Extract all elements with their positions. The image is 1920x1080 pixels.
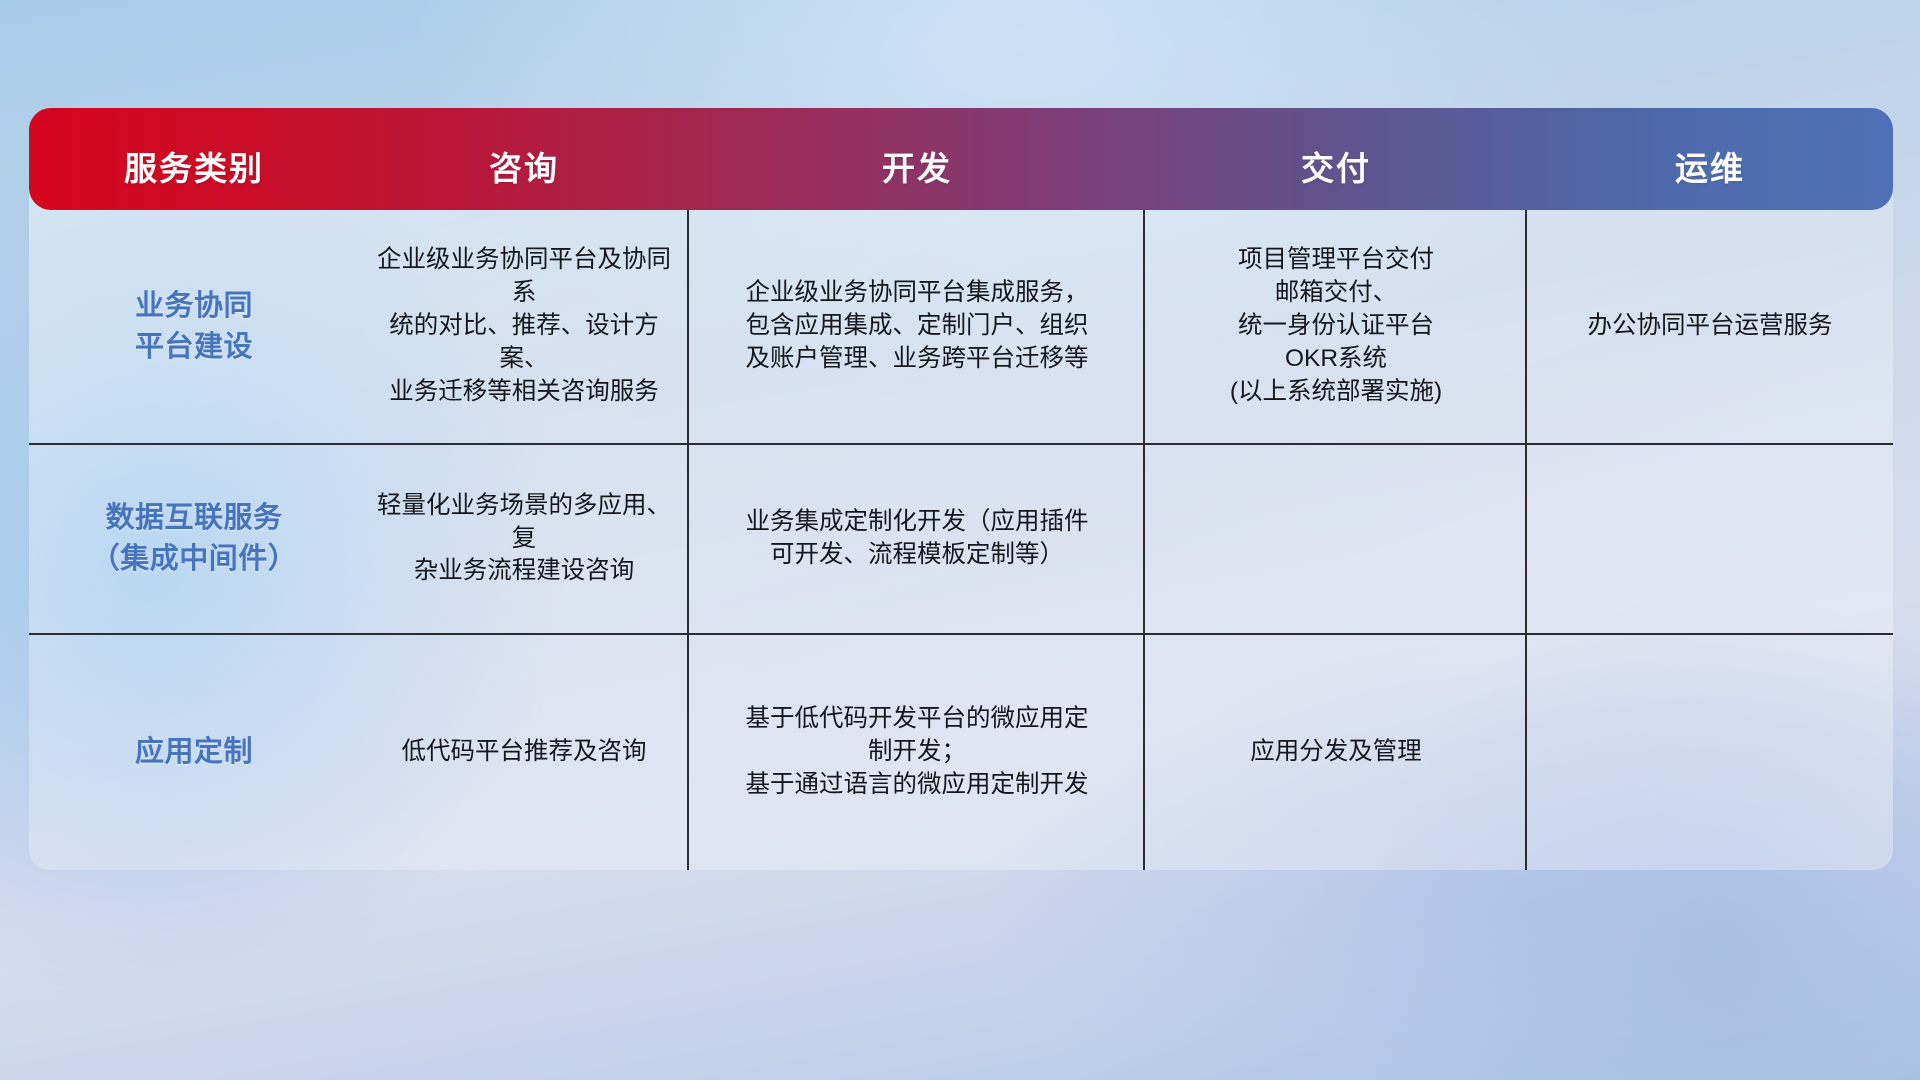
table-row: 应用定制 低代码平台推荐及咨询 基于低代码开发平台的微应用定 制开发； 基于通过… [29, 635, 1893, 870]
cell-operations: 办公协同平台运营服务 [1527, 210, 1893, 443]
column-header-operations: 运维 [1527, 108, 1893, 210]
column-header-category: 服务类别 [29, 108, 359, 210]
cell-delivery [1145, 445, 1527, 633]
row-category-label: 数据互联服务 （集成中间件） [29, 445, 359, 633]
table-header-row: 服务类别 咨询 开发 交付 运维 [29, 108, 1893, 210]
column-header-delivery: 交付 [1145, 108, 1527, 210]
cell-operations [1527, 445, 1893, 633]
cell-development: 业务集成定制化开发（应用插件 可开发、流程模板定制等） [689, 445, 1145, 633]
cell-consulting: 企业级业务协同平台及协同系 统的对比、推荐、设计方案、 业务迁移等相关咨询服务 [359, 210, 689, 443]
cell-delivery: 项目管理平台交付 邮箱交付、 统一身份认证平台 OKR系统 (以上系统部署实施) [1145, 210, 1527, 443]
table-body: 业务协同 平台建设 企业级业务协同平台及协同系 统的对比、推荐、设计方案、 业务… [29, 184, 1893, 870]
cell-consulting: 低代码平台推荐及咨询 [359, 635, 689, 870]
column-header-consulting: 咨询 [359, 108, 689, 210]
cell-consulting: 轻量化业务场景的多应用、复 杂业务流程建设咨询 [359, 445, 689, 633]
table-row: 业务协同 平台建设 企业级业务协同平台及协同系 统的对比、推荐、设计方案、 业务… [29, 210, 1893, 445]
cell-development: 基于低代码开发平台的微应用定 制开发； 基于通过语言的微应用定制开发 [689, 635, 1145, 870]
column-header-development: 开发 [689, 108, 1145, 210]
table-row: 数据互联服务 （集成中间件） 轻量化业务场景的多应用、复 杂业务流程建设咨询 业… [29, 445, 1893, 635]
cell-delivery: 应用分发及管理 [1145, 635, 1527, 870]
cell-development: 企业级业务协同平台集成服务， 包含应用集成、定制门户、组织 及账户管理、业务跨平… [689, 210, 1145, 443]
service-matrix-table: 服务类别 咨询 开发 交付 运维 业务协同 平台建设 企业级业务协同平台及协同系… [29, 108, 1893, 870]
row-category-label: 应用定制 [29, 635, 359, 870]
cell-operations [1527, 635, 1893, 870]
row-category-label: 业务协同 平台建设 [29, 210, 359, 443]
